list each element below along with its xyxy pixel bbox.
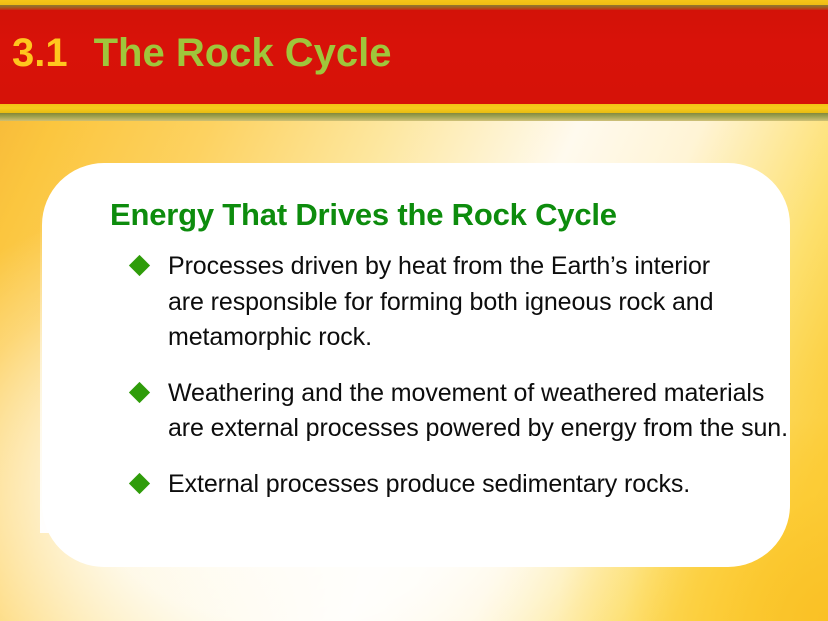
content-card-inner: Energy That Drives the Rock Cycle Proces… (42, 163, 790, 567)
bullet-item: Processes driven by heat from the Earth’… (128, 249, 778, 356)
diamond-bullet-icon (129, 255, 150, 276)
slide-canvas: 3.1 The Rock Cycle Energy That Drives th… (0, 0, 828, 621)
bullet-text: External processes produce sedimentary r… (168, 467, 753, 503)
bullet-item: External processes produce sedimentary r… (128, 467, 778, 503)
content-heading: Energy That Drives the Rock Cycle (110, 197, 617, 233)
bullet-text: Processes driven by heat from the Earth’… (168, 249, 748, 356)
diamond-bullet-icon (129, 381, 150, 402)
section-title: The Rock Cycle (94, 33, 392, 73)
banner-title-group: 3.1 The Rock Cycle (12, 24, 392, 82)
bullet-item: Weathering and the movement of weathered… (128, 376, 778, 447)
bullet-text: Weathering and the movement of weathered… (168, 376, 793, 447)
slide-header-banner: 3.1 The Rock Cycle (0, 0, 828, 121)
banner-bottom-olive-rule (0, 113, 828, 121)
diamond-bullet-icon (129, 472, 150, 493)
section-number: 3.1 (12, 33, 68, 73)
banner-bottom-gold-rule (0, 104, 828, 113)
content-card: Energy That Drives the Rock Cycle Proces… (42, 163, 790, 567)
bullet-list: Processes driven by heat from the Earth’… (128, 249, 778, 502)
